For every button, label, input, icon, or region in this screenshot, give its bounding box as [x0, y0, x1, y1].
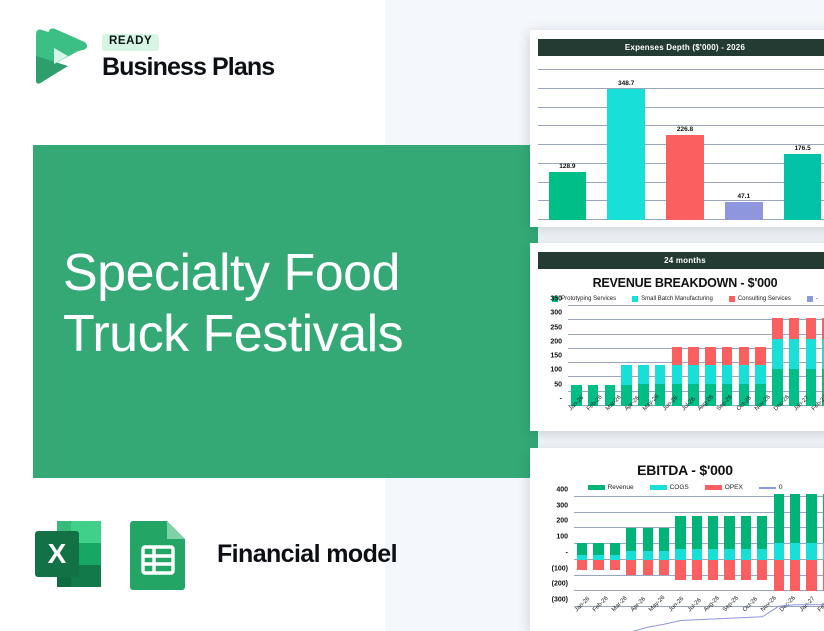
stacked-bar-column [819, 306, 824, 406]
revenue-stacked-bars [568, 306, 824, 406]
play-triangle-logo-icon [30, 26, 90, 88]
stacked-bar-column [719, 306, 736, 406]
stack-segment [789, 339, 799, 369]
stack-segment [692, 560, 702, 580]
legend-label: Prototyping Services [561, 296, 616, 302]
stacked-bar-column [585, 306, 602, 406]
negative-stack [577, 560, 587, 570]
stack-segment [757, 549, 767, 560]
svg-text:X: X [48, 538, 67, 569]
ebitda-column [771, 497, 787, 607]
expenses-chart-band-title: Expenses Depth ($'000) - 2026 [538, 39, 824, 56]
legend-label: Revenue [608, 484, 634, 491]
stacked-bar-column [669, 306, 686, 406]
hero-banner: Specialty Food Truck Festivals [33, 145, 538, 478]
positive-stack [610, 543, 620, 559]
stack-segment [772, 318, 782, 339]
positive-stack [757, 516, 767, 560]
stack-segment [741, 560, 751, 580]
stack-segment [724, 549, 734, 560]
y-axis-tick: 350 [530, 296, 562, 303]
stack-segment [626, 560, 636, 575]
stack-segment [672, 365, 682, 384]
stack-segment [774, 543, 784, 560]
ready-badge: READY [102, 34, 159, 51]
stack-segment [593, 543, 603, 555]
stack-segment [638, 365, 648, 384]
stacked-bar-column [602, 306, 619, 406]
positive-stack [659, 528, 669, 559]
stack-segment [659, 560, 669, 575]
y-axis-tick: 400 [534, 487, 568, 494]
legend-item: Consulting Services [729, 296, 791, 302]
stack-segment [724, 516, 734, 548]
negative-stack [806, 560, 816, 591]
stack-segment [705, 347, 715, 364]
legend-swatch [807, 296, 813, 302]
stack-segment [724, 560, 734, 580]
positive-stack [675, 516, 685, 560]
stacked-bar-column [568, 306, 585, 406]
negative-stack [757, 560, 767, 580]
legend-label: COGS [670, 484, 689, 491]
ebitda-column [820, 497, 824, 607]
stack-segment [708, 549, 718, 560]
stack-segment [755, 347, 765, 364]
slide-canvas: READY Business Plans Specialty Food Truc… [0, 0, 824, 631]
y-axis-tick: 250 [530, 324, 562, 331]
positive-stack [774, 494, 784, 560]
chart-card-revenue: 24 months REVENUE BREAKDOWN - $'000 Prot… [530, 243, 824, 431]
legend-label: 0 [779, 484, 783, 491]
ebitda-column [803, 497, 819, 607]
negative-stack [593, 560, 603, 570]
revenue-chart-title: REVENUE BREAKDOWN - $'000 [530, 276, 824, 290]
stacked-bar-column [803, 306, 820, 406]
stack-segment [739, 365, 749, 384]
stack-segment [675, 516, 685, 548]
stack [789, 318, 799, 406]
stack-segment [708, 516, 718, 548]
positive-stack [593, 543, 603, 559]
y-axis-tick: 200 [530, 338, 562, 345]
legend-item: OPEX [705, 484, 743, 491]
ebitda-column [623, 497, 639, 607]
stack-segment [757, 516, 767, 548]
positive-stack [643, 528, 653, 559]
bar [607, 89, 645, 220]
stack-segment [722, 365, 732, 384]
stack-segment [806, 339, 816, 369]
stack-segment [757, 560, 767, 580]
y-axis-tick: (100) [534, 565, 568, 572]
page-title: Specialty Food Truck Festivals [63, 243, 403, 366]
bar-column: 226.8 [656, 70, 715, 220]
revenue-x-axis-labels: Jan-26Feb-26Mar-26Apr-26May-26Jun-26Jul-… [568, 408, 824, 414]
revenue-chart-legend: Prototyping ServicesSmall Batch Manufact… [530, 296, 824, 302]
ebitda-x-axis-labels: Jan-26Feb-26Mar-26Apr-26May-26Jun-26Jul-… [574, 609, 824, 615]
stack-segment [774, 494, 784, 542]
negative-stack [610, 560, 620, 570]
positive-stack [806, 494, 816, 560]
stack-segment [675, 549, 685, 560]
stack-segment [692, 549, 702, 560]
legend-item: Small Batch Manufacturing [632, 296, 713, 302]
positive-stack [790, 494, 800, 560]
bar-value-label: 226.8 [677, 126, 693, 133]
bar [725, 202, 763, 220]
stack-segment [688, 347, 698, 364]
microsoft-excel-icon: X [33, 517, 105, 591]
y-axis-tick: 300 [534, 502, 568, 509]
positive-stack [577, 543, 587, 559]
stacked-bar-column [752, 306, 769, 406]
stack-segment [577, 543, 587, 555]
ebitda-column [705, 497, 721, 607]
revenue-y-axis-labels: 35030025020015010050- [536, 306, 566, 406]
positive-stack [741, 516, 751, 560]
legend-item: Revenue [588, 484, 634, 491]
legend-swatch [759, 487, 776, 489]
y-axis-tick: - [530, 396, 562, 403]
stacked-bar-column [685, 306, 702, 406]
brand-name: Business Plans [102, 54, 274, 80]
stack-segment [672, 347, 682, 364]
bar-column: 128.9 [538, 70, 597, 220]
stack-segment [790, 543, 800, 560]
ebitda-column [754, 497, 770, 607]
stack-segment [655, 365, 665, 384]
bar-value-label: 176.5 [794, 145, 810, 152]
bar-column: 176.5 [773, 70, 824, 220]
negative-stack [741, 560, 751, 580]
stacked-bar-column [736, 306, 753, 406]
stack-segment [643, 560, 653, 575]
legend-label: OPEX [725, 484, 743, 491]
y-axis-tick: 200 [534, 518, 568, 525]
bar [666, 135, 704, 220]
ebitda-y-axis-labels: 400300200100-(100)(200)(300) [536, 497, 572, 607]
negative-stack [692, 560, 702, 580]
chart-card-ebitda: EBITDA - $'000 RevenueCOGSOPEX0 40030020… [530, 448, 824, 631]
legend-item: - [807, 296, 818, 302]
stack-segment [626, 528, 636, 551]
ebitda-column [689, 497, 705, 607]
stack-segment [806, 543, 816, 560]
bar-column: 47.1 [714, 70, 773, 220]
expenses-plot-area: 128.9348.7226.847.1176.5 [538, 70, 824, 220]
bar-value-label: 47.1 [737, 193, 750, 200]
negative-stack [659, 560, 669, 575]
negative-stack [643, 560, 653, 575]
y-axis-tick: 300 [530, 310, 562, 317]
y-axis-tick: 100 [534, 534, 568, 541]
ebitda-column [738, 497, 754, 607]
legend-swatch [632, 296, 638, 302]
stack-segment [806, 494, 816, 542]
stack-segment [789, 318, 799, 339]
chart-card-expenses: Expenses Depth ($'000) - 2026 128.9348.7… [530, 30, 824, 227]
positive-stack [724, 516, 734, 560]
ebitda-column [640, 497, 656, 607]
brand-text-block: READY Business Plans [102, 34, 274, 80]
legend-item: 0 [759, 484, 783, 491]
stack-segment [772, 339, 782, 369]
legend-swatch [588, 485, 605, 490]
expenses-bars: 128.9348.7226.847.1176.5 [538, 70, 824, 220]
stack-segment [790, 494, 800, 542]
ebitda-column [574, 497, 590, 607]
negative-stack [675, 560, 685, 580]
brand-lockup: READY Business Plans [30, 26, 274, 88]
y-axis-tick: (200) [534, 581, 568, 588]
ebitda-column [607, 497, 623, 607]
stacked-bar-column [652, 306, 669, 406]
stack-segment [722, 347, 732, 364]
negative-stack [626, 560, 636, 575]
legend-item: COGS [650, 484, 689, 491]
stack-segment [806, 560, 816, 591]
legend-swatch [729, 296, 735, 302]
stack-segment [688, 365, 698, 384]
bar [784, 154, 822, 220]
stack-segment [675, 560, 685, 580]
revenue-chart-band-title: 24 months [538, 252, 824, 269]
y-axis-tick: 100 [530, 367, 562, 374]
legend-label: Consulting Services [738, 296, 791, 302]
negative-stack [774, 560, 784, 591]
ebitda-stacked-bars [574, 497, 824, 607]
google-sheets-icon [123, 517, 195, 591]
footer-block: X Financial model [33, 517, 397, 591]
stack-segment [643, 528, 653, 551]
revenue-plot-area: 35030025020015010050- Jan-26Feb-26Mar-26… [536, 306, 824, 406]
legend-label: Small Batch Manufacturing [641, 296, 713, 302]
bar [549, 172, 587, 220]
stack-segment [705, 365, 715, 384]
stack-segment [692, 516, 702, 548]
y-axis-tick: (300) [534, 597, 568, 604]
y-axis-tick: 50 [530, 381, 562, 388]
ebitda-column [721, 497, 737, 607]
stack-segment [741, 549, 751, 560]
stack-segment [708, 560, 718, 580]
stack-segment [659, 528, 669, 551]
stacked-bar-column [702, 306, 719, 406]
bar-column: 348.7 [597, 70, 656, 220]
y-axis-tick: 150 [530, 353, 562, 360]
ebitda-chart-legend: RevenueCOGSOPEX0 [530, 484, 824, 491]
ebitda-column [656, 497, 672, 607]
stack [806, 318, 816, 406]
stack-segment [593, 560, 603, 570]
legend-swatch [650, 485, 667, 490]
positive-stack [626, 528, 636, 559]
negative-stack [724, 560, 734, 580]
stacked-bar-column [618, 306, 635, 406]
positive-stack [708, 516, 718, 560]
legend-label: - [816, 296, 818, 302]
ebitda-chart-title: EBITDA - $'000 [530, 462, 824, 478]
stacked-bar-column [769, 306, 786, 406]
ebitda-column [590, 497, 606, 607]
stack-segment [643, 551, 653, 560]
bar-value-label: 348.7 [618, 80, 634, 87]
ebitda-column [672, 497, 688, 607]
stack-segment [755, 365, 765, 384]
stack-segment [790, 560, 800, 591]
positive-stack [692, 516, 702, 560]
stack-segment [789, 369, 799, 406]
stack-segment [610, 543, 620, 555]
stack-segment [741, 516, 751, 548]
stack-segment [610, 560, 620, 570]
bar-value-label: 128.9 [559, 163, 575, 170]
legend-swatch [705, 485, 722, 490]
stack [772, 318, 782, 406]
stacked-bar-column [635, 306, 652, 406]
stack-segment [774, 560, 784, 591]
stack-segment [621, 365, 631, 385]
stack-segment [739, 347, 749, 364]
ebitda-column [787, 497, 803, 607]
y-axis-tick: - [534, 549, 568, 556]
stack-segment [626, 551, 636, 560]
ebitda-plot-area: 400300200100-(100)(200)(300) Jan-26Feb-2… [536, 497, 824, 607]
stack-segment [577, 560, 587, 570]
negative-stack [708, 560, 718, 580]
stack-segment [806, 318, 816, 339]
footer-label: Financial model [217, 540, 397, 569]
negative-stack [790, 560, 800, 591]
stacked-bar-column [786, 306, 803, 406]
stack-segment [659, 551, 669, 560]
